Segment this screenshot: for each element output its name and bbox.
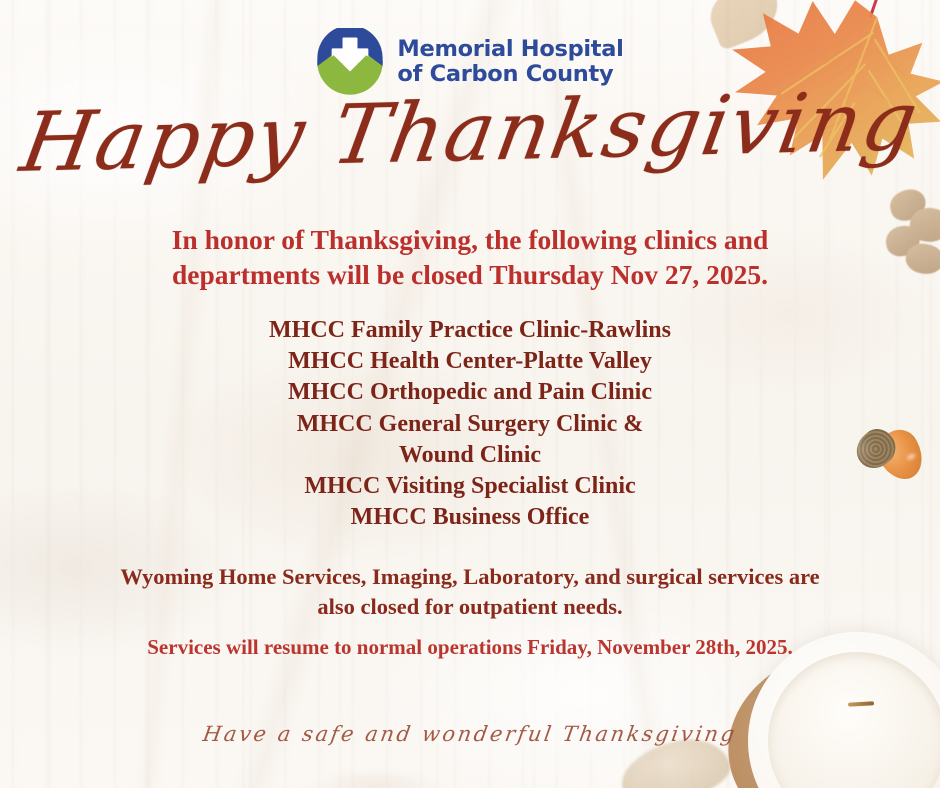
closed-clinics-list: MHCC Family Practice Clinic-Rawlins MHCC… [0,315,940,533]
list-item: MHCC Family Practice Clinic-Rawlins [0,315,940,346]
resume-operations-notice: Services will resume to normal operation… [110,634,830,662]
list-item: MHCC Orthopedic and Pain Clinic [0,377,940,408]
poster-content: Memorial Hospital of Carbon County Happy… [0,0,940,788]
list-item: Wound Clinic [0,440,940,471]
happy-thanksgiving-title: Happy Thanksgiving [0,81,940,186]
also-closed-notice: Wyoming Home Services, Imaging, Laborato… [110,562,830,622]
list-item: MHCC Health Center-Platte Valley [0,346,940,377]
thanksgiving-closure-notice-poster: Memorial Hospital of Carbon County Happy… [0,0,940,788]
closure-headline: In honor of Thanksgiving, the following … [96,222,844,292]
closing-greeting: Have a safe and wonderful Thanksgiving [0,722,940,746]
hospital-name: Memorial Hospital of Carbon County [397,37,623,87]
list-item: MHCC Business Office [0,502,940,533]
hospital-cross-circle-logo-icon [316,28,384,96]
list-item: MHCC Visiting Specialist Clinic [0,471,940,502]
list-item: MHCC General Surgery Clinic & [0,409,940,440]
